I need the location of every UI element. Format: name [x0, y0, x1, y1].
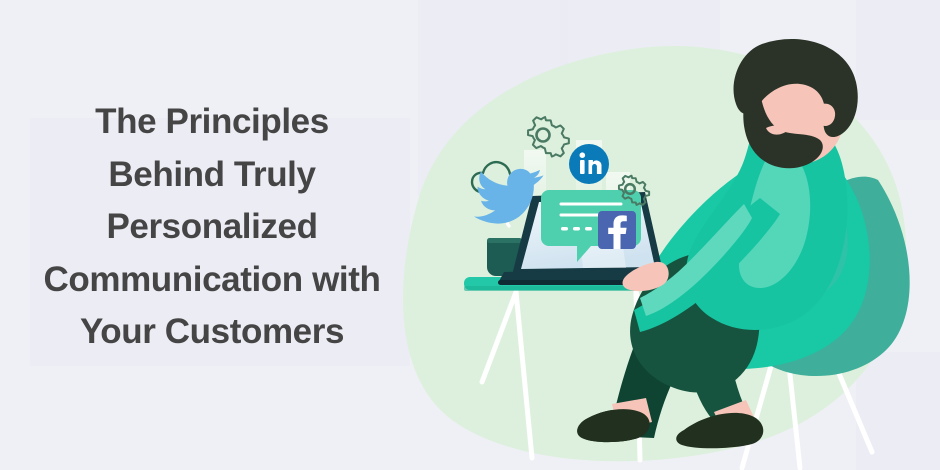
- facebook-icon: [598, 211, 636, 249]
- hero-banner: The Principles Behind Truly Personalized…: [0, 0, 940, 470]
- page-title: The Principles Behind Truly Personalized…: [0, 96, 424, 359]
- linkedin-icon: [569, 144, 609, 184]
